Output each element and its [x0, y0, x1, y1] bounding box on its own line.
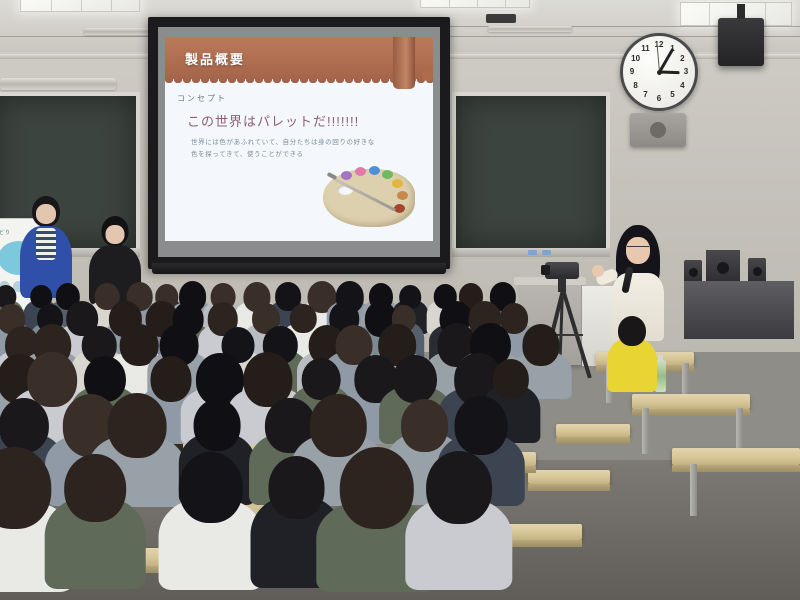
audience-head — [65, 454, 127, 522]
speaker-face — [626, 237, 650, 264]
clock-numeral: 9 — [626, 68, 638, 76]
audience-member — [44, 454, 148, 600]
desk-front-panel — [556, 437, 630, 444]
presenter-blue-hoodie — [18, 196, 74, 296]
presenter-striped-shirt — [36, 228, 56, 260]
palette-blob-5 — [397, 191, 408, 200]
clock-numeral: 5 — [667, 91, 679, 99]
desk-leg — [690, 464, 697, 516]
student-desk — [632, 394, 750, 409]
clock-hour-hand — [659, 71, 679, 75]
clock-numeral: 4 — [676, 82, 688, 90]
slide-banner-title: 製品概要 — [185, 49, 245, 68]
palette-blob-3 — [382, 170, 393, 179]
audience-torso — [607, 338, 657, 392]
audience-member-yellow-top — [606, 316, 658, 388]
av-equipment-rack — [684, 281, 794, 339]
clock-numeral: 7 — [640, 91, 652, 99]
slide-headline: この世界はパレットだ!!!!!!! — [187, 111, 359, 130]
clock-numeral: 2 — [676, 55, 688, 63]
wall-mounted-speaker-under-clock — [630, 113, 686, 147]
ceiling-vent-2 — [488, 26, 572, 32]
presentation-slide: 製品概要 コンセプト この世界はパレットだ!!!!!!! 世界には色があふれてい… — [165, 37, 433, 241]
chalkboard-right — [452, 92, 610, 252]
palette-blob-1 — [355, 167, 366, 176]
audience-head — [107, 393, 166, 458]
audience-head — [426, 451, 492, 524]
projection-screen-frame: 製品概要 コンセプト この世界はパレットだ!!!!!!! 世界には色があふれてい… — [148, 17, 450, 269]
audience-member — [404, 451, 515, 600]
audience-head — [493, 359, 529, 399]
wall-clock: 121234567891011 — [620, 33, 698, 111]
glasses-icon — [627, 246, 649, 250]
audience-head — [179, 452, 243, 523]
projection-screen-mat: 製品概要 コンセプト この世界はパレットだ!!!!!!! 世界には色があふれてい… — [158, 27, 440, 257]
ceiling-light-panel-1 — [20, 0, 140, 12]
student-desk — [556, 424, 630, 437]
clock-numeral: 6 — [653, 95, 665, 103]
desk-front-panel — [632, 409, 750, 416]
presenter-face — [106, 225, 125, 244]
student-desk — [672, 448, 800, 465]
wall-air-conditioner — [0, 78, 116, 90]
slide-section-label: コンセプト — [177, 93, 227, 104]
audience-head — [455, 396, 508, 455]
clock-numeral: 3 — [680, 68, 692, 76]
ceiling-light-panel-2 — [420, 0, 530, 8]
audience-head — [618, 316, 646, 346]
clock-numeral: 12 — [653, 41, 665, 49]
ceiling-projector — [486, 14, 516, 23]
ceiling-mounted-speaker — [718, 18, 764, 66]
clock-numeral: 8 — [630, 82, 642, 90]
chalk-piece — [528, 250, 537, 255]
audience-head — [393, 355, 437, 404]
presenter-face — [36, 204, 56, 224]
clock-numeral: 11 — [640, 45, 652, 53]
desk-leg — [736, 408, 743, 452]
banner-knob-decoration — [422, 70, 433, 81]
banner-curl-decoration — [393, 37, 415, 89]
palette-blob-2 — [369, 166, 380, 175]
desk-front-panel — [528, 484, 610, 491]
palette-blob-4 — [392, 179, 403, 188]
audience-head — [194, 399, 241, 451]
video-camera — [545, 262, 579, 279]
clock-numeral: 10 — [630, 55, 642, 63]
clock-center-pin — [657, 70, 662, 75]
lecture-hall-photo: 製品概要 コンセプト この世界はパレットだ!!!!!!! 世界には色があふれてい… — [0, 0, 800, 600]
student-desk — [528, 470, 610, 484]
paint-palette-illustration — [315, 155, 425, 235]
projection-screen-housing — [152, 263, 446, 274]
chalk-piece — [542, 250, 551, 255]
palette-blob-0 — [341, 171, 352, 180]
poster-heading-text: どり — [0, 229, 11, 236]
desk-leg — [642, 408, 649, 454]
audience-head — [0, 398, 49, 454]
